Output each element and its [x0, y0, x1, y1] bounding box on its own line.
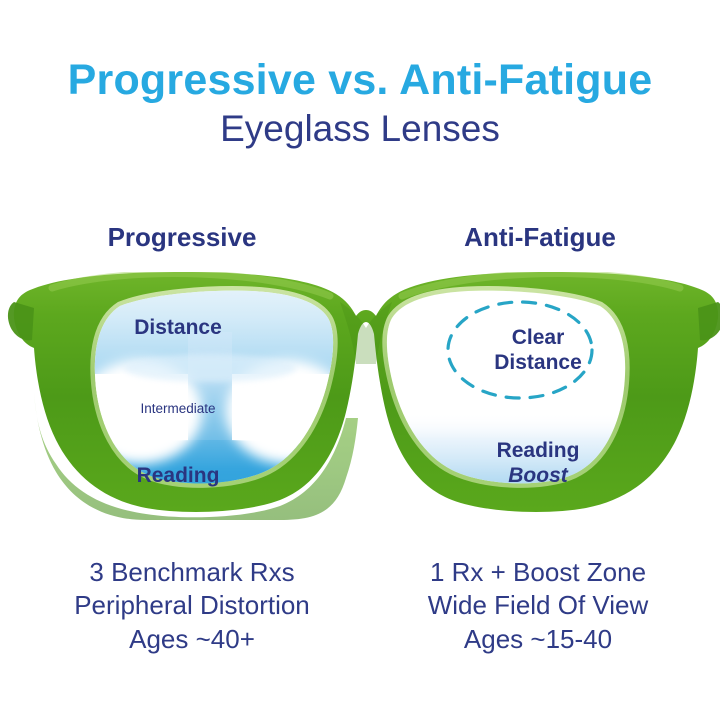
eyeglasses-svg — [0, 272, 720, 520]
left-corridor-blend — [124, 354, 296, 382]
column-heading-anti-fatigue: Anti-Fatigue — [390, 222, 690, 253]
right-desc-line-3: Ages ~15-40 — [368, 623, 708, 656]
left-hinge — [8, 302, 34, 340]
right-description-block: 1 Rx + Boost Zone Wide Field Of View Age… — [368, 556, 708, 656]
right-hinge — [698, 302, 720, 340]
right-desc-line-1: 1 Rx + Boost Zone — [368, 556, 708, 589]
page-title: Progressive vs. Anti-Fatigue Eyeglass Le… — [0, 58, 720, 151]
title-line-primary: Progressive vs. Anti-Fatigue — [0, 58, 720, 104]
left-desc-line-2: Peripheral Distortion — [22, 589, 362, 622]
left-description-block: 3 Benchmark Rxs Peripheral Distortion Ag… — [22, 556, 362, 656]
right-desc-line-2: Wide Field Of View — [368, 589, 708, 622]
left-desc-line-3: Ages ~40+ — [22, 623, 362, 656]
title-line-secondary: Eyeglass Lenses — [0, 106, 720, 151]
eyeglasses-illustration — [0, 272, 720, 520]
left-desc-line-1: 3 Benchmark Rxs — [22, 556, 362, 589]
column-heading-progressive: Progressive — [32, 222, 332, 253]
infographic-canvas: Progressive vs. Anti-Fatigue Eyeglass Le… — [0, 0, 720, 720]
